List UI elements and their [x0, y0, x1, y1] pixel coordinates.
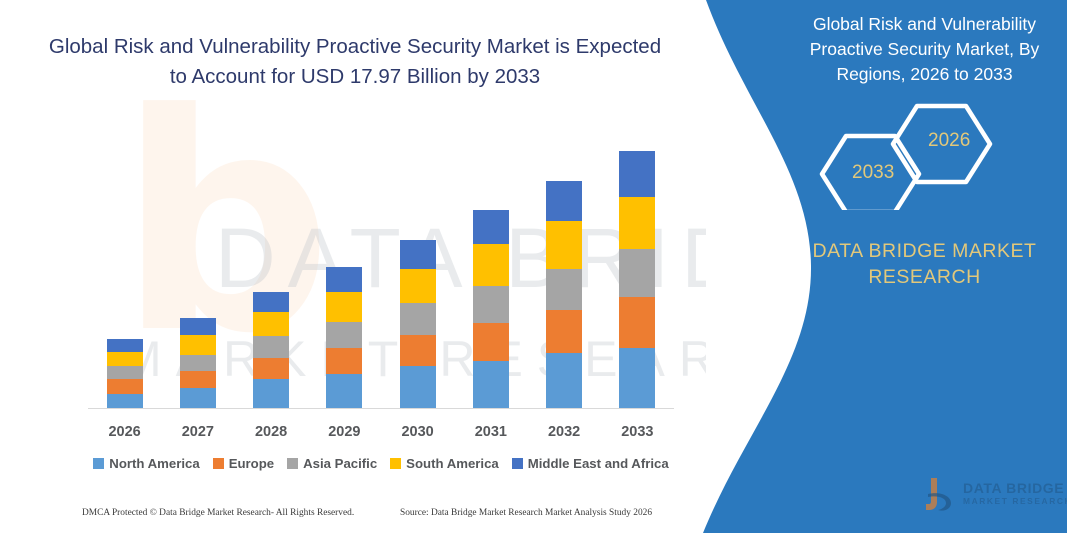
bar-segment: [253, 358, 289, 380]
bar-segment: [180, 318, 216, 335]
bar-segment: [546, 353, 582, 408]
data-bridge-logo-icon: [918, 472, 964, 518]
bar-segment: [180, 335, 216, 355]
bar-column-2027: [163, 140, 233, 408]
stacked-bar-chart: [88, 140, 674, 408]
bar-column-2033: [602, 140, 672, 408]
bar-segment: [107, 379, 143, 393]
bar-segment: [180, 388, 216, 408]
x-axis-label-2032: 2032: [529, 424, 599, 440]
footer-copyright: DMCA Protected © Data Bridge Market Rese…: [82, 508, 354, 518]
bar-segment: [473, 210, 509, 244]
brand-name-line2: RESEARCH: [792, 266, 1057, 289]
bar-segment: [473, 361, 509, 408]
bar-segment: [619, 249, 655, 298]
x-axis-label-2030: 2030: [383, 424, 453, 440]
bar-segment: [473, 244, 509, 286]
bar-segment: [326, 322, 362, 348]
bar-segment: [107, 366, 143, 379]
legend-label: Europe: [229, 456, 274, 471]
bar-segment: [253, 379, 289, 408]
stacked-bar: [400, 240, 436, 408]
bar-segment: [619, 151, 655, 197]
legend-item[interactable]: South America: [390, 456, 499, 471]
logo-text-line1: DATA BRIDGE: [963, 480, 1064, 496]
bar-segment: [473, 323, 509, 360]
page-title: Global Risk and Vulnerability Proactive …: [40, 32, 670, 92]
bar-segment: [107, 352, 143, 366]
bar-segment: [619, 197, 655, 249]
bar-segment: [473, 286, 509, 323]
bar-segment: [546, 269, 582, 311]
legend-item[interactable]: Europe: [213, 456, 274, 471]
bar-segment: [107, 394, 143, 408]
x-axis-line: [88, 408, 674, 409]
legend-swatch-icon: [390, 458, 401, 469]
legend-label: Middle East and Africa: [528, 456, 669, 471]
bar-column-2029: [309, 140, 379, 408]
hexagon-shapes-icon: [810, 100, 1040, 210]
stacked-bar: [326, 267, 362, 408]
bar-segment: [253, 312, 289, 336]
x-axis-label-2033: 2033: [602, 424, 672, 440]
legend-label: South America: [406, 456, 499, 471]
infographic-root: b DATA BRIDGE MARKET RESEARCH Global Ris…: [0, 0, 1067, 533]
bar-segment: [180, 355, 216, 371]
stacked-bar: [473, 210, 509, 408]
bar-segment: [400, 269, 436, 303]
stacked-bar: [619, 151, 655, 408]
bar-segment: [253, 336, 289, 358]
x-axis-label-2026: 2026: [90, 424, 160, 440]
legend-swatch-icon: [93, 458, 104, 469]
bar-column-2031: [456, 140, 526, 408]
footer-source: Source: Data Bridge Market Research Mark…: [400, 508, 652, 518]
bar-segment: [326, 267, 362, 291]
legend-swatch-icon: [287, 458, 298, 469]
x-axis-label-2029: 2029: [309, 424, 379, 440]
logo-text-line2: MARKET RESEARCH: [963, 496, 1067, 506]
stacked-bar: [180, 318, 216, 408]
stacked-bar: [546, 181, 582, 408]
bar-segment: [400, 335, 436, 367]
bar-column-2026: [90, 140, 160, 408]
bar-segment: [400, 303, 436, 335]
bar-segment: [400, 366, 436, 408]
bar-segment: [326, 374, 362, 408]
legend-label: North America: [109, 456, 199, 471]
bar-column-2032: [529, 140, 599, 408]
legend-item[interactable]: North America: [93, 456, 199, 471]
x-axis-label-2031: 2031: [456, 424, 526, 440]
hexagon-group: 2026 2033: [810, 100, 1040, 210]
bar-column-2028: [236, 140, 306, 408]
hexagon-2026-label: 2026: [928, 130, 970, 152]
bar-segment: [546, 181, 582, 221]
bar-segment: [253, 292, 289, 312]
legend-swatch-icon: [512, 458, 523, 469]
legend-swatch-icon: [213, 458, 224, 469]
bar-segment: [326, 348, 362, 374]
brand-name-line1: DATA BRIDGE MARKET: [792, 240, 1057, 263]
bar-segment: [400, 240, 436, 269]
x-axis-labels: 20262027202820292030203120322033: [88, 424, 674, 440]
bar-segment: [619, 297, 655, 347]
stacked-bar: [107, 339, 143, 408]
stacked-bar: [253, 292, 289, 408]
bar-segment: [326, 292, 362, 322]
hexagon-2033-label: 2033: [852, 162, 894, 184]
legend-item[interactable]: Asia Pacific: [287, 456, 377, 471]
x-axis-label-2027: 2027: [163, 424, 233, 440]
bar-column-2030: [383, 140, 453, 408]
bar-segment: [107, 339, 143, 352]
x-axis-label-2028: 2028: [236, 424, 306, 440]
panel-title: Global Risk and Vulnerability Proactive …: [792, 12, 1057, 87]
chart-legend: North AmericaEuropeAsia PacificSouth Ame…: [88, 456, 674, 471]
bar-segment: [619, 348, 655, 408]
legend-label: Asia Pacific: [303, 456, 377, 471]
legend-item[interactable]: Middle East and Africa: [512, 456, 669, 471]
bar-segment: [546, 221, 582, 268]
bar-segment: [180, 371, 216, 388]
bar-segment: [546, 310, 582, 353]
